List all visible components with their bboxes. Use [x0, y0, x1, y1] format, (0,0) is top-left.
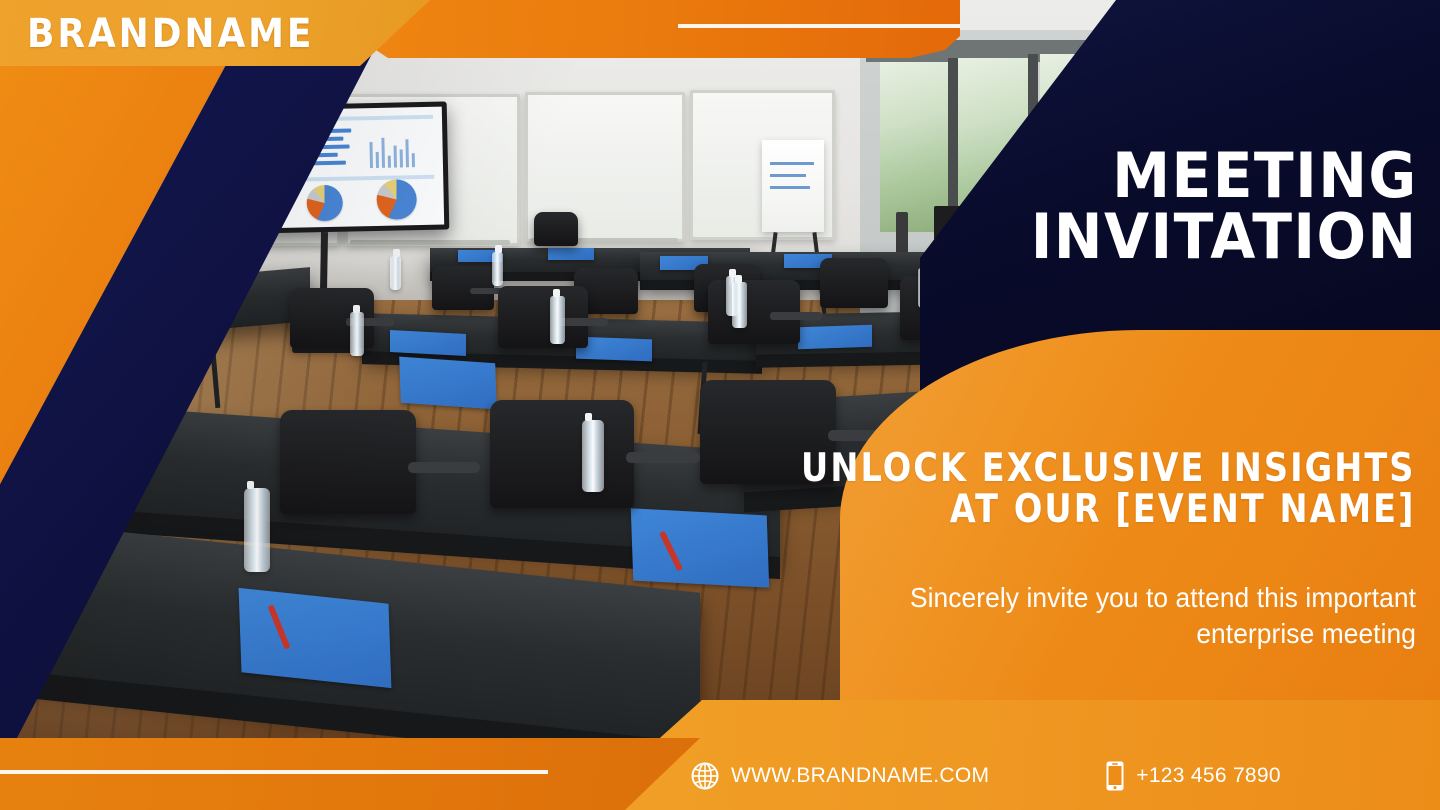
- headline-line-1: UNLOCK EXCLUSIVE INSIGHTS: [802, 446, 1416, 491]
- headline-line-2: AT OUR [EVENT NAME]: [802, 489, 1416, 530]
- page-title: MEETING INVITATION: [1031, 146, 1418, 268]
- phone-label: +123 456 7890: [1136, 764, 1281, 788]
- meeting-invitation-poster: BRANDNAME MEETING INVITATION UNLOCK EXCL…: [0, 0, 1440, 810]
- contact-phone[interactable]: +123 456 7890: [1105, 760, 1281, 792]
- globe-icon: [690, 761, 720, 791]
- subtitle-line-2: enterprise meeting: [814, 616, 1416, 652]
- brand-name: BRANDNAME: [27, 11, 314, 57]
- smartphone-icon: [1105, 760, 1125, 792]
- footer-contacts: WWW.BRANDNAME.COM +123 456 7890: [690, 760, 1430, 792]
- subtitle: Sincerely invite you to attend this impo…: [814, 580, 1416, 652]
- footer-amber-band: [580, 700, 1440, 810]
- subtitle-line-1: Sincerely invite you to attend this impo…: [910, 582, 1416, 613]
- footer-rule: [0, 770, 548, 774]
- website-label: WWW.BRANDNAME.COM: [731, 764, 989, 788]
- title-line-2: INVITATION: [1031, 207, 1418, 268]
- headline: UNLOCK EXCLUSIVE INSIGHTS AT OUR [EVENT …: [802, 448, 1416, 531]
- contact-website[interactable]: WWW.BRANDNAME.COM: [690, 761, 989, 791]
